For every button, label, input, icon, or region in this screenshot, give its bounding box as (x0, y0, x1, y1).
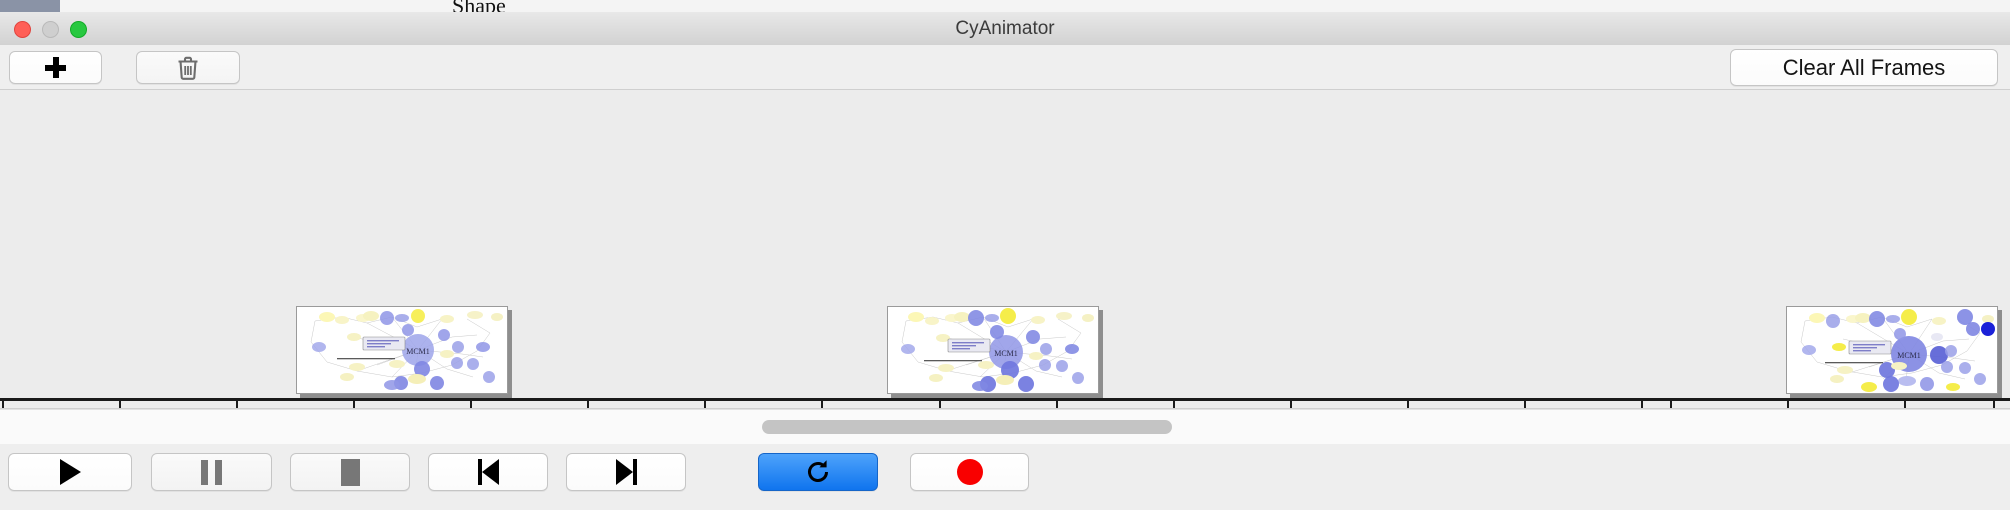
stop-icon (341, 459, 360, 486)
axis-tick-minor (821, 401, 823, 409)
background-tab (282, 0, 388, 12)
axis-tick-major (939, 401, 941, 409)
axis-tick-major (1173, 401, 1175, 409)
skip-back-icon (478, 459, 499, 485)
axis-tick-minor (1641, 401, 1643, 409)
loop-icon (804, 458, 832, 486)
thumbnail-image: MCM1 (1786, 306, 1998, 394)
delete-frame-button[interactable] (136, 51, 240, 84)
axis-tick-minor (1670, 401, 1672, 409)
horizontal-scrollbar[interactable] (762, 420, 1172, 434)
loop-button[interactable] (758, 453, 878, 491)
axis-tick-minor (1993, 401, 1995, 409)
svg-text:MCM1: MCM1 (1897, 351, 1921, 360)
scrollbar-track[interactable] (0, 409, 2010, 445)
thumbnail-image: MCM1 (887, 306, 1099, 394)
clear-all-frames-button[interactable]: Clear All Frames (1730, 49, 1998, 86)
title-bar: CyAnimator (0, 12, 2010, 46)
timeline-axis (0, 398, 2010, 401)
background-tab (1219, 0, 1780, 12)
axis-tick-minor (1407, 401, 1409, 409)
network-graph: MCM1 (297, 307, 507, 393)
axis-tick-minor (587, 401, 589, 409)
background-tab (227, 0, 283, 12)
trash-icon (176, 55, 200, 81)
axis-tick-minor (1904, 401, 1906, 409)
cyanimator-window: Shape CyAnimator Clear All Frames (0, 0, 2010, 510)
plus-icon (45, 57, 66, 78)
pause-button[interactable] (151, 453, 272, 491)
background-tab (60, 0, 186, 12)
playback-bar: Animation Speed: (0, 444, 2010, 510)
axis-tick-minor (1056, 401, 1058, 409)
axis-tick-major (1787, 401, 1789, 409)
play-icon (60, 459, 81, 485)
stop-button[interactable] (290, 453, 410, 491)
svg-text:MCM1: MCM1 (406, 347, 430, 356)
background-tab (899, 0, 1220, 12)
frame-thumbnail-1[interactable]: MCM1 (296, 306, 512, 398)
axis-tick-major (236, 401, 238, 409)
first-frame-button[interactable] (428, 453, 548, 491)
axis-tick-major (704, 401, 706, 409)
last-frame-button[interactable] (566, 453, 686, 491)
axis-tick-major (2, 401, 4, 409)
timeline-panel[interactable]: MCM1 (0, 90, 2010, 409)
add-frame-button[interactable] (9, 51, 102, 84)
background-tab (519, 0, 900, 12)
skip-forward-icon (616, 459, 637, 485)
record-button[interactable] (910, 453, 1029, 491)
network-graph: MCM1 (888, 307, 1098, 393)
axis-tick-minor (353, 401, 355, 409)
axis-tick-minor (119, 401, 121, 409)
svg-text:MCM1: MCM1 (994, 349, 1018, 358)
axis-tick-minor (1524, 401, 1526, 409)
frame-thumbnail-2[interactable]: MCM1 (887, 306, 1103, 398)
thumbnail-image: MCM1 (296, 306, 508, 394)
background-tab (1779, 0, 2010, 12)
frame-toolbar: Clear All Frames (0, 45, 2010, 90)
network-graph: MCM1 (1787, 307, 1997, 393)
background-tab-selected (0, 0, 61, 12)
axis-tick-minor (1290, 401, 1292, 409)
pause-icon (201, 460, 222, 485)
background-tab (185, 0, 228, 12)
axis-tick-major (470, 401, 472, 409)
record-icon (957, 459, 983, 485)
background-window-label: Shape (452, 0, 506, 12)
play-button[interactable] (8, 453, 132, 491)
frame-thumbnail-3[interactable]: MCM1 (1786, 306, 2002, 398)
window-title: CyAnimator (0, 12, 2010, 45)
